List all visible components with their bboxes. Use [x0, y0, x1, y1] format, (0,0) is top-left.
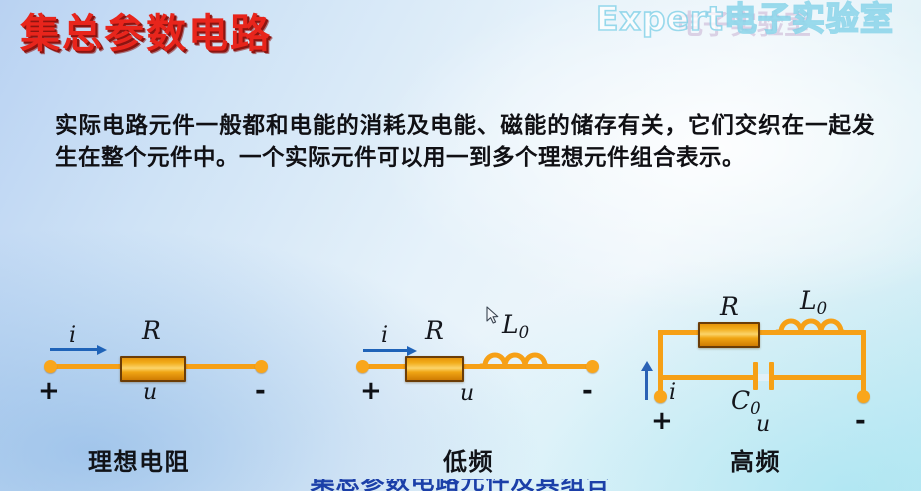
current-label: i — [381, 325, 388, 347]
inductor-label: L0 — [800, 288, 827, 317]
polarity-plus: + — [651, 408, 673, 434]
wire-segment — [362, 364, 592, 369]
caption-high-frequency: 高频 — [730, 450, 781, 474]
resistor-label: R — [720, 294, 739, 319]
voltage-label: u — [460, 383, 474, 405]
resistor-label: R — [142, 318, 161, 343]
voltage-label: u — [756, 414, 770, 436]
terminal-node-positive — [356, 360, 369, 373]
resistor-symbol — [405, 356, 464, 382]
wire-segment-right — [861, 330, 866, 395]
resistor-symbol — [698, 322, 760, 348]
circuit-high-frequency: i R L0 C0 u + - — [0, 0, 300, 160]
watermark-secondary: 电子实验室 — [676, 12, 811, 39]
resistor-label: R — [425, 318, 444, 343]
inductor-symbol — [479, 340, 549, 368]
wire-segment-left — [658, 330, 663, 395]
polarity-minus: - — [855, 408, 866, 434]
watermark-primary: Expert电子实验室 — [596, 2, 894, 35]
polarity-plus: + — [38, 378, 60, 404]
bottom-clipped-text: 集总参数电路元件及其组合 — [0, 479, 921, 491]
slide-canvas: 电子实验室 Expert电子实验室 集总参数电路 实际电路元件一般都和电能的消耗… — [0, 0, 921, 491]
terminal-node-positive — [654, 390, 667, 403]
current-label: i — [69, 325, 76, 347]
polarity-plus: + — [360, 378, 382, 404]
resistor-symbol — [120, 356, 186, 382]
current-arrow-icon — [50, 348, 98, 351]
caption-low-frequency: 低频 — [443, 450, 494, 474]
polarity-minus: - — [582, 378, 593, 404]
inductor-label: L0 — [502, 312, 529, 341]
terminal-node-positive — [44, 360, 57, 373]
terminal-node-negative — [857, 390, 870, 403]
terminal-node-negative — [255, 360, 268, 373]
capacitor-gap — [758, 374, 769, 381]
voltage-label: u — [143, 382, 157, 404]
caption-ideal-resistor: 理想电阻 — [88, 450, 190, 474]
current-arrow-icon — [645, 370, 648, 400]
polarity-minus: - — [255, 378, 266, 404]
terminal-node-negative — [586, 360, 599, 373]
mouse-cursor-icon — [486, 306, 500, 325]
current-label: i — [669, 382, 676, 404]
capacitor-plate-right — [769, 362, 774, 390]
current-arrow-icon — [363, 349, 408, 352]
